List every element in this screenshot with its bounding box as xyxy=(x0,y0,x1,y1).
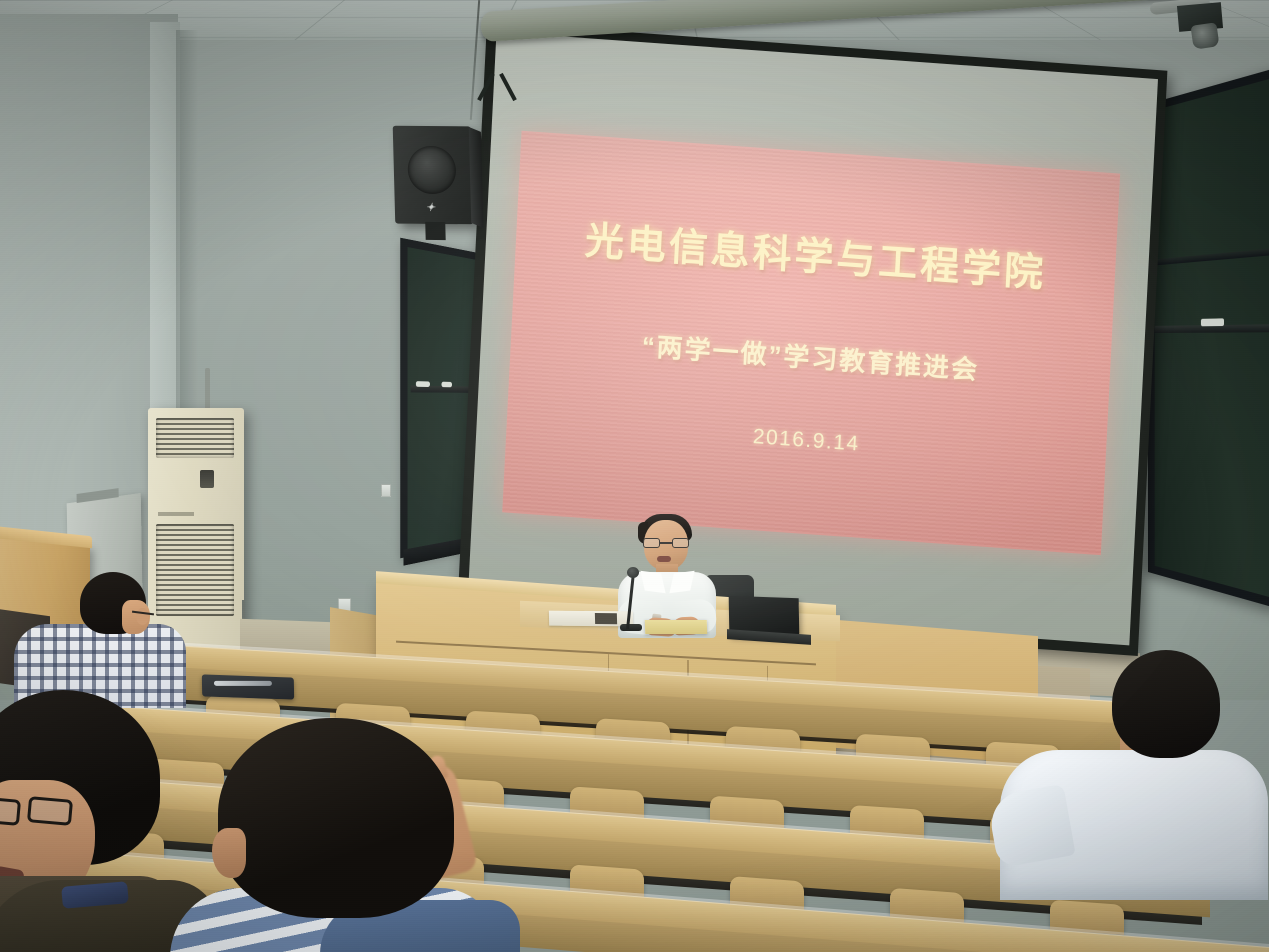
slide-title: 光电信息科学与工程学院 xyxy=(584,210,1048,299)
chalk-piece xyxy=(416,381,430,387)
open-notebook xyxy=(645,620,707,634)
lecture-hall-photo: ✦ 光电信息科学与工程学院 “两学一做”学习教育推进会 2016.9.14 xyxy=(0,0,1269,952)
ac-brand-logo xyxy=(158,512,194,516)
speaker-driver xyxy=(407,146,456,194)
paper-dark-insert xyxy=(595,613,617,624)
attendee-glasses-icon xyxy=(0,798,80,824)
presenter-mouth xyxy=(657,556,671,562)
lens-left xyxy=(0,796,21,826)
attendee-checkered-shirt xyxy=(14,572,184,702)
notebook-with-pen xyxy=(202,674,294,699)
slide-date: 2016.9.14 xyxy=(752,425,860,457)
speaker-brand-logo: ✦ xyxy=(417,202,443,215)
attendee-white-shirt xyxy=(992,650,1267,890)
ac-top-grille xyxy=(156,418,234,458)
lens-right xyxy=(27,796,73,826)
microphone-capsule xyxy=(627,567,639,578)
lens-left xyxy=(643,538,660,548)
pen-icon xyxy=(214,681,272,686)
projected-slide: 光电信息科学与工程学院 “两学一做”学习教育推进会 2016.9.14 xyxy=(502,131,1120,555)
attendee-striped-shirt-foreground xyxy=(170,718,510,952)
presenter-eyeglasses-icon xyxy=(643,538,689,548)
chalkboard-upper-rail xyxy=(1155,248,1269,265)
attendee-ear xyxy=(212,828,246,878)
wall-speaker-icon: ✦ xyxy=(393,126,474,225)
screen-bracket xyxy=(478,72,524,100)
glasses-bridge xyxy=(660,542,672,544)
speaker-mount xyxy=(425,222,445,240)
ac-control-panel xyxy=(200,470,214,488)
lens-right xyxy=(672,538,689,548)
ceiling-camera-icon xyxy=(1190,22,1219,49)
chalk-piece xyxy=(442,382,452,388)
microphone-base xyxy=(620,624,642,631)
chalk-piece xyxy=(1201,318,1224,326)
chalkboard-right xyxy=(1148,66,1269,610)
attendee-head xyxy=(218,718,454,918)
slide-subtitle: “两学一做”学习教育推进会 xyxy=(641,326,980,387)
wall-outlet xyxy=(381,484,391,497)
attendee-arm xyxy=(986,784,1075,868)
projection-screen: 光电信息科学与工程学院 “两学一做”学习教育推进会 2016.9.14 xyxy=(457,22,1167,656)
screen-fabric: 光电信息科学与工程学院 “两学一做”学习教育推进会 2016.9.14 xyxy=(468,32,1158,646)
attendee-head xyxy=(1112,650,1220,758)
